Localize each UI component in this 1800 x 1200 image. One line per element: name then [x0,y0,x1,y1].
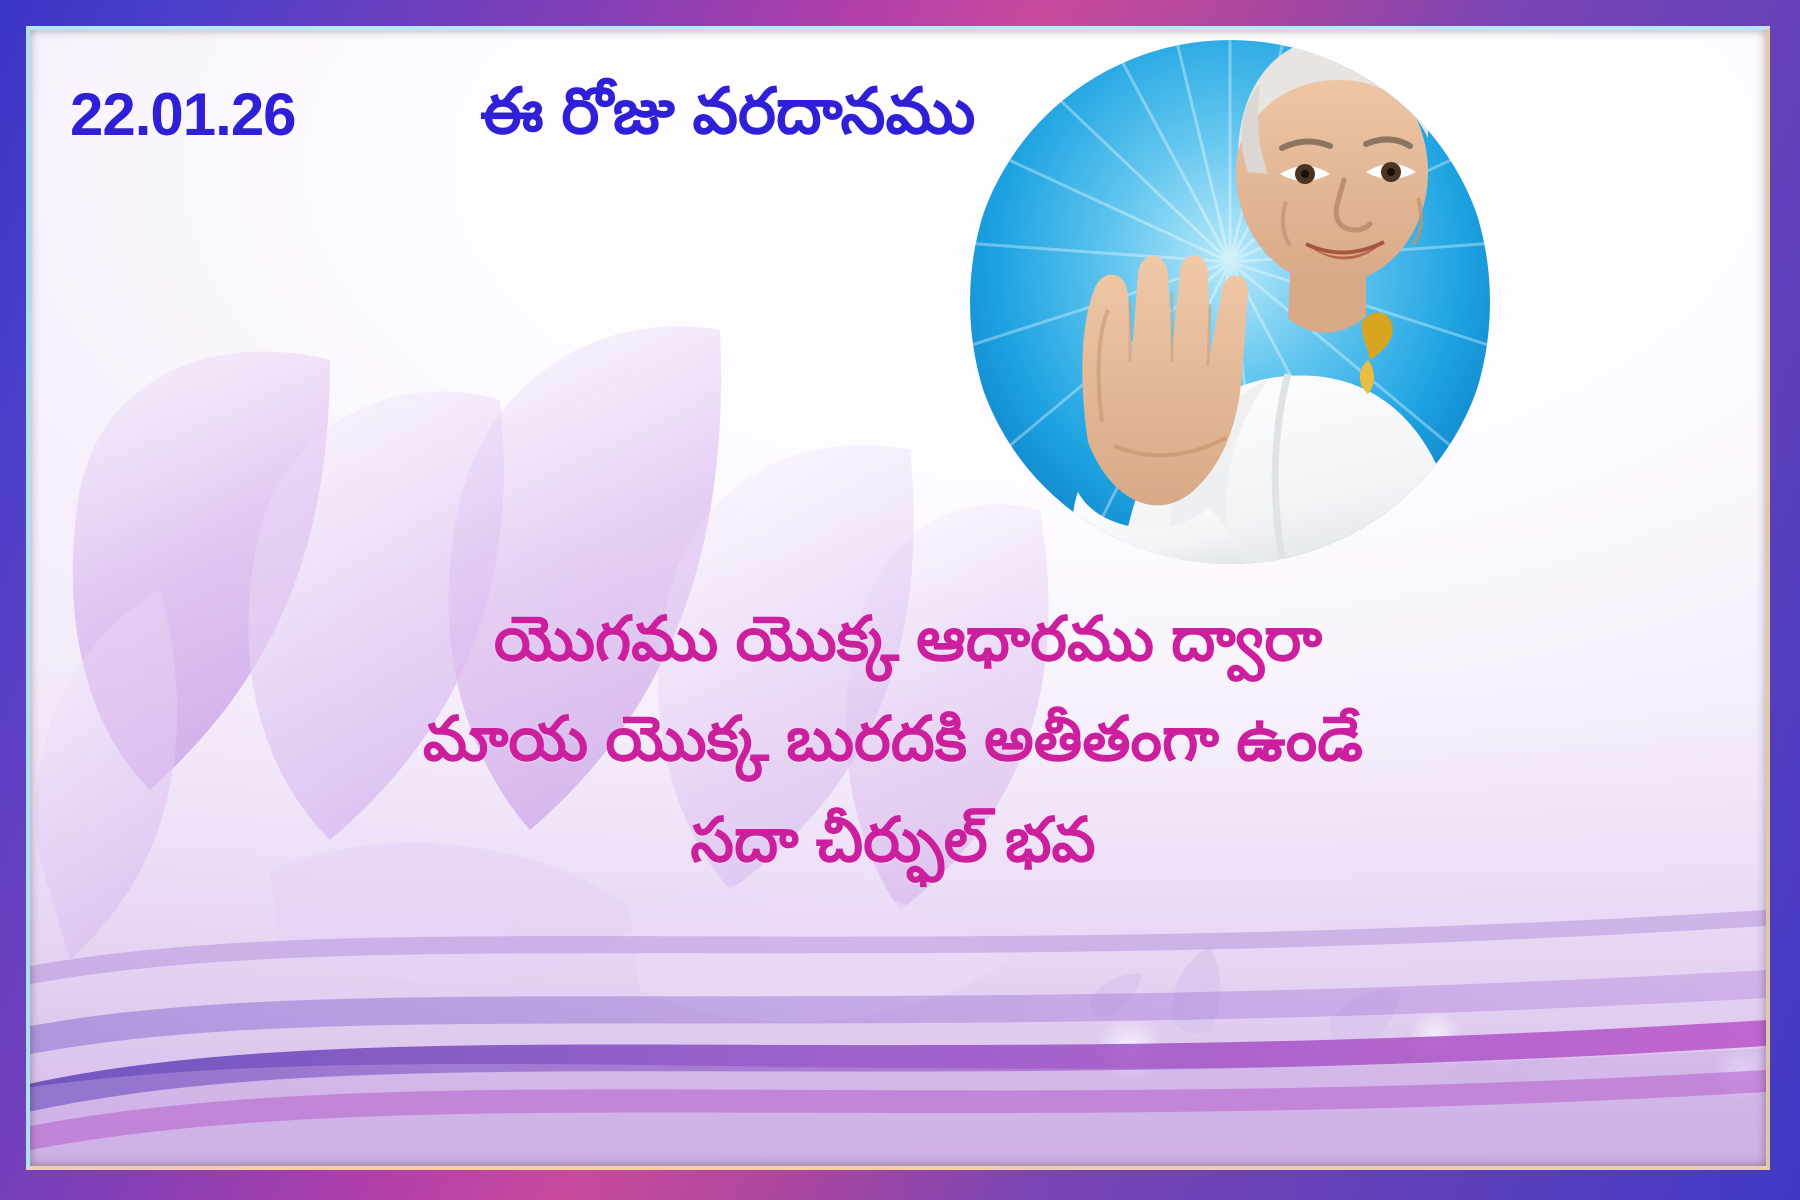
greeting-card: 22.01.26 ఈ రోజు వరదానము [0,0,1800,1200]
message-line-2: మాయ యొక్క బురదకి అతీతంగా ఉండే [30,690,1766,790]
message-line-3: సదా చీర్ఫుల్ భవ [30,791,1766,891]
message-line-1: యొగము యొక్క ఆధారము ద్వారా [50,590,1766,690]
dadi-portrait [970,30,1490,582]
card-canvas: 22.01.26 ఈ రోజు వరదానము [30,30,1766,1166]
blessing-message: యొగము యొక్క ఆధారము ద్వారా మాయ యొక్క బురద… [30,590,1766,891]
page-title: ఈ రోజు వరదానము [480,74,975,164]
portrait-illustration [970,30,1490,582]
date-label: 22.01.26 [70,80,296,149]
